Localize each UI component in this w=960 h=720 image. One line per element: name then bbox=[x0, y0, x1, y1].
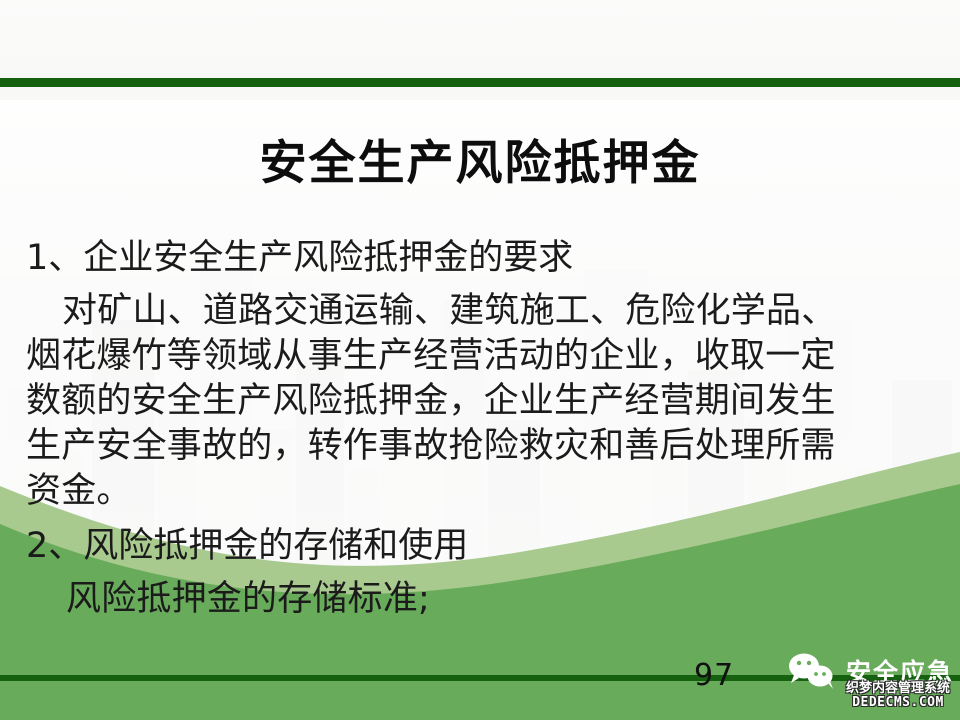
top-divider-rule bbox=[0, 78, 960, 87]
section-1-heading: 1、企业安全生产风险抵押金的要求 bbox=[26, 236, 938, 281]
section-2-item-1: 风险抵押金的存储标准; bbox=[26, 577, 938, 622]
slide-title: 安全生产风险抵押金 bbox=[0, 136, 960, 191]
wechat-icon bbox=[786, 652, 838, 690]
paragraph-line-3: 数额的安全生产风险抵押金，企业生产经营期间发生 bbox=[26, 379, 938, 424]
slide-body-lower: 2、风险抵押金的存储和使用 风险抵押金的存储标准; bbox=[26, 524, 938, 622]
watermark-domain-text: DEDECMS.COM bbox=[846, 696, 950, 710]
presentation-slide: 安全生产风险抵押金 1、企业安全生产风险抵押金的要求 对矿山、道路交通运输、建筑… bbox=[0, 0, 960, 720]
section-2-heading: 2、风险抵押金的存储和使用 bbox=[26, 524, 938, 569]
paragraph-line-5: 资金。 bbox=[26, 469, 938, 514]
paragraph-line-4: 生产安全事故的，转作事故抢险救灾和善后处理所需 bbox=[26, 424, 938, 469]
paragraph-line-2: 烟花爆竹等领域从事生产经营活动的企业，收取一定 bbox=[26, 334, 938, 379]
page-number: 97 bbox=[694, 658, 734, 693]
watermark-chinese-text: 织梦内容管理系统 bbox=[846, 682, 950, 696]
slide-body-upper: 1、企业安全生产风险抵押金的要求 对矿山、道路交通运输、建筑施工、危险化学品、 … bbox=[26, 236, 938, 514]
dedecms-watermark: 织梦内容管理系统 DEDECMS.COM bbox=[846, 682, 950, 709]
paragraph-line-1: 对矿山、道路交通运输、建筑施工、危险化学品、 bbox=[26, 289, 938, 334]
